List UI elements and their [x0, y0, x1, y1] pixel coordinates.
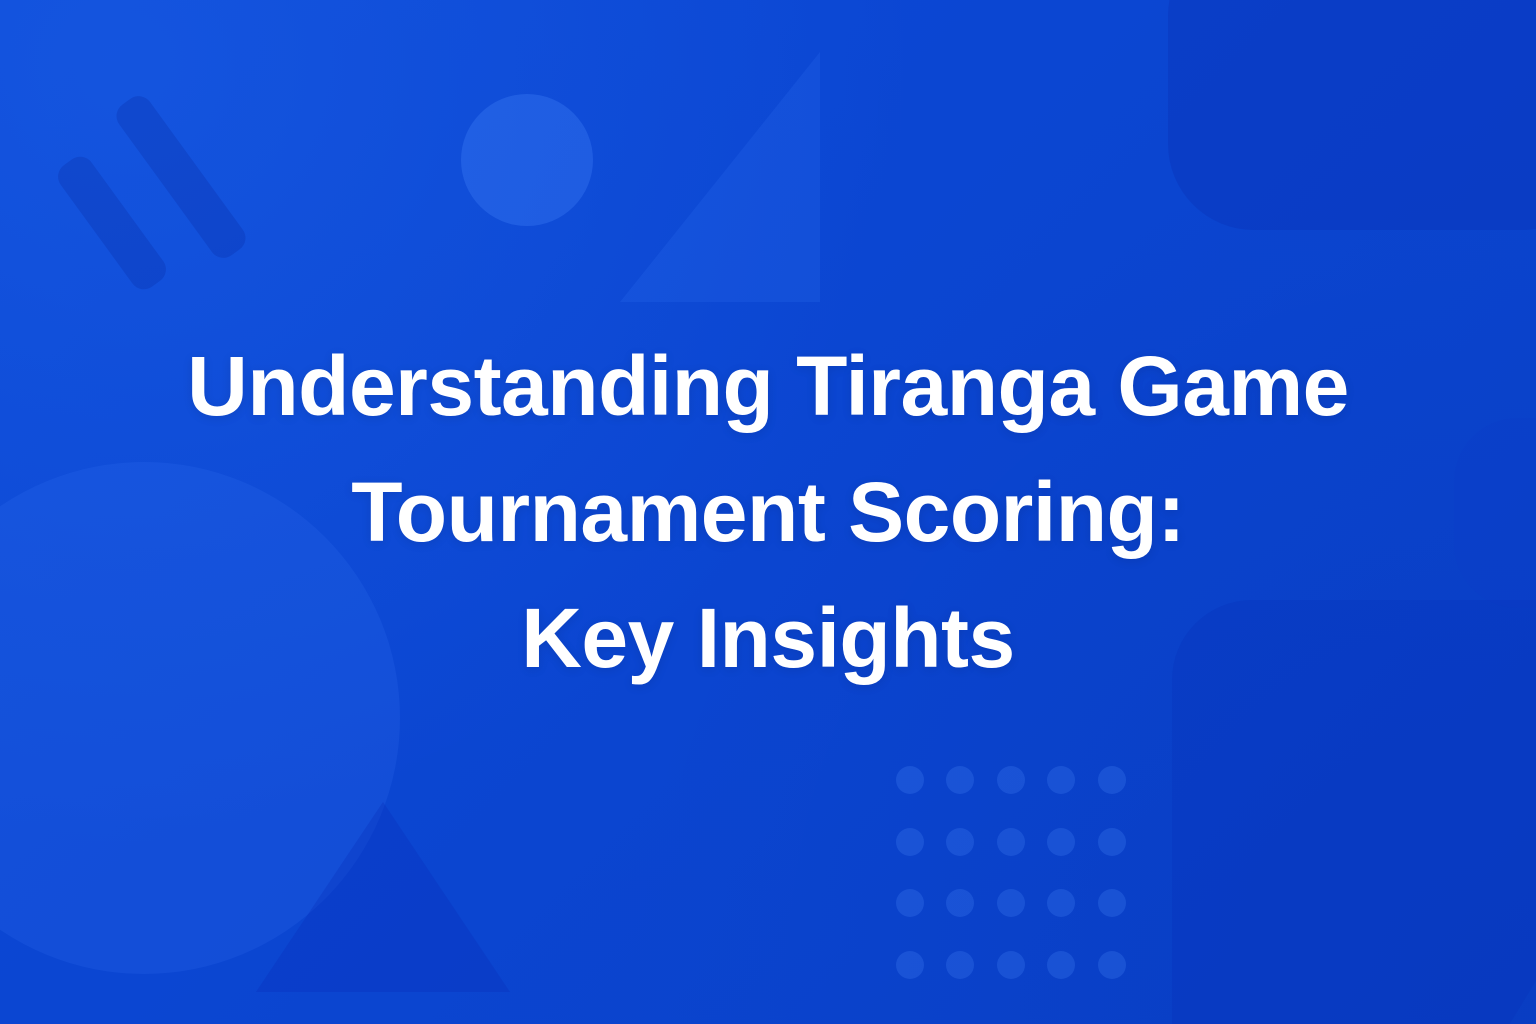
headline-container: Understanding Tiranga Game Tournament Sc… [0, 0, 1536, 1024]
page-title: Understanding Tiranga Game Tournament Sc… [187, 323, 1349, 701]
title-card-banner: Understanding Tiranga Game Tournament Sc… [0, 0, 1536, 1024]
page-title-line-1: Understanding Tiranga Game [187, 323, 1349, 449]
page-title-line-3: Key Insights [187, 575, 1349, 701]
page-title-line-2: Tournament Scoring: [187, 449, 1349, 575]
